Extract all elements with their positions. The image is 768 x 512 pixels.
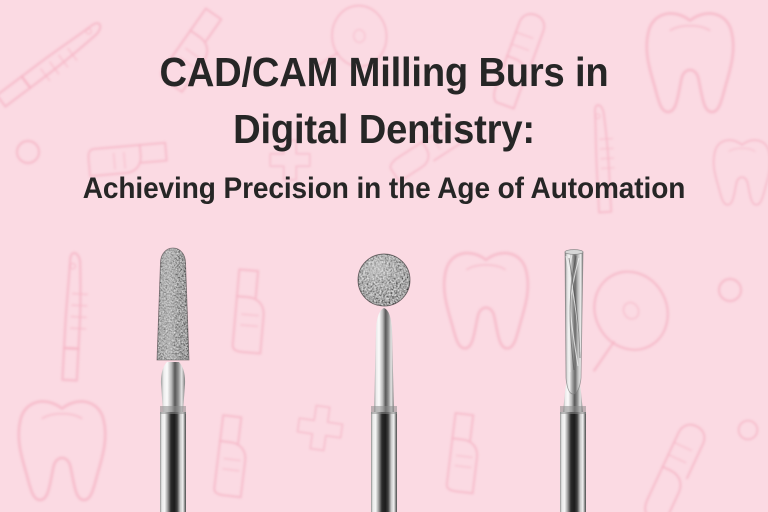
banner: CAD/CAM Milling Burs in Digital Dentistr… [0, 0, 768, 512]
bur-round-diamond [356, 252, 412, 512]
bur-tapered-diamond [152, 244, 196, 512]
headline-block: CAD/CAM Milling Burs in Digital Dentistr… [0, 0, 768, 208]
title-line-2: Digital Dentistry: [27, 101, 741, 158]
subtitle: Achieving Precision in the Age of Automa… [19, 170, 749, 208]
bur-carbide-fissure [560, 250, 586, 512]
title-line-1: CAD/CAM Milling Burs in [27, 44, 741, 101]
